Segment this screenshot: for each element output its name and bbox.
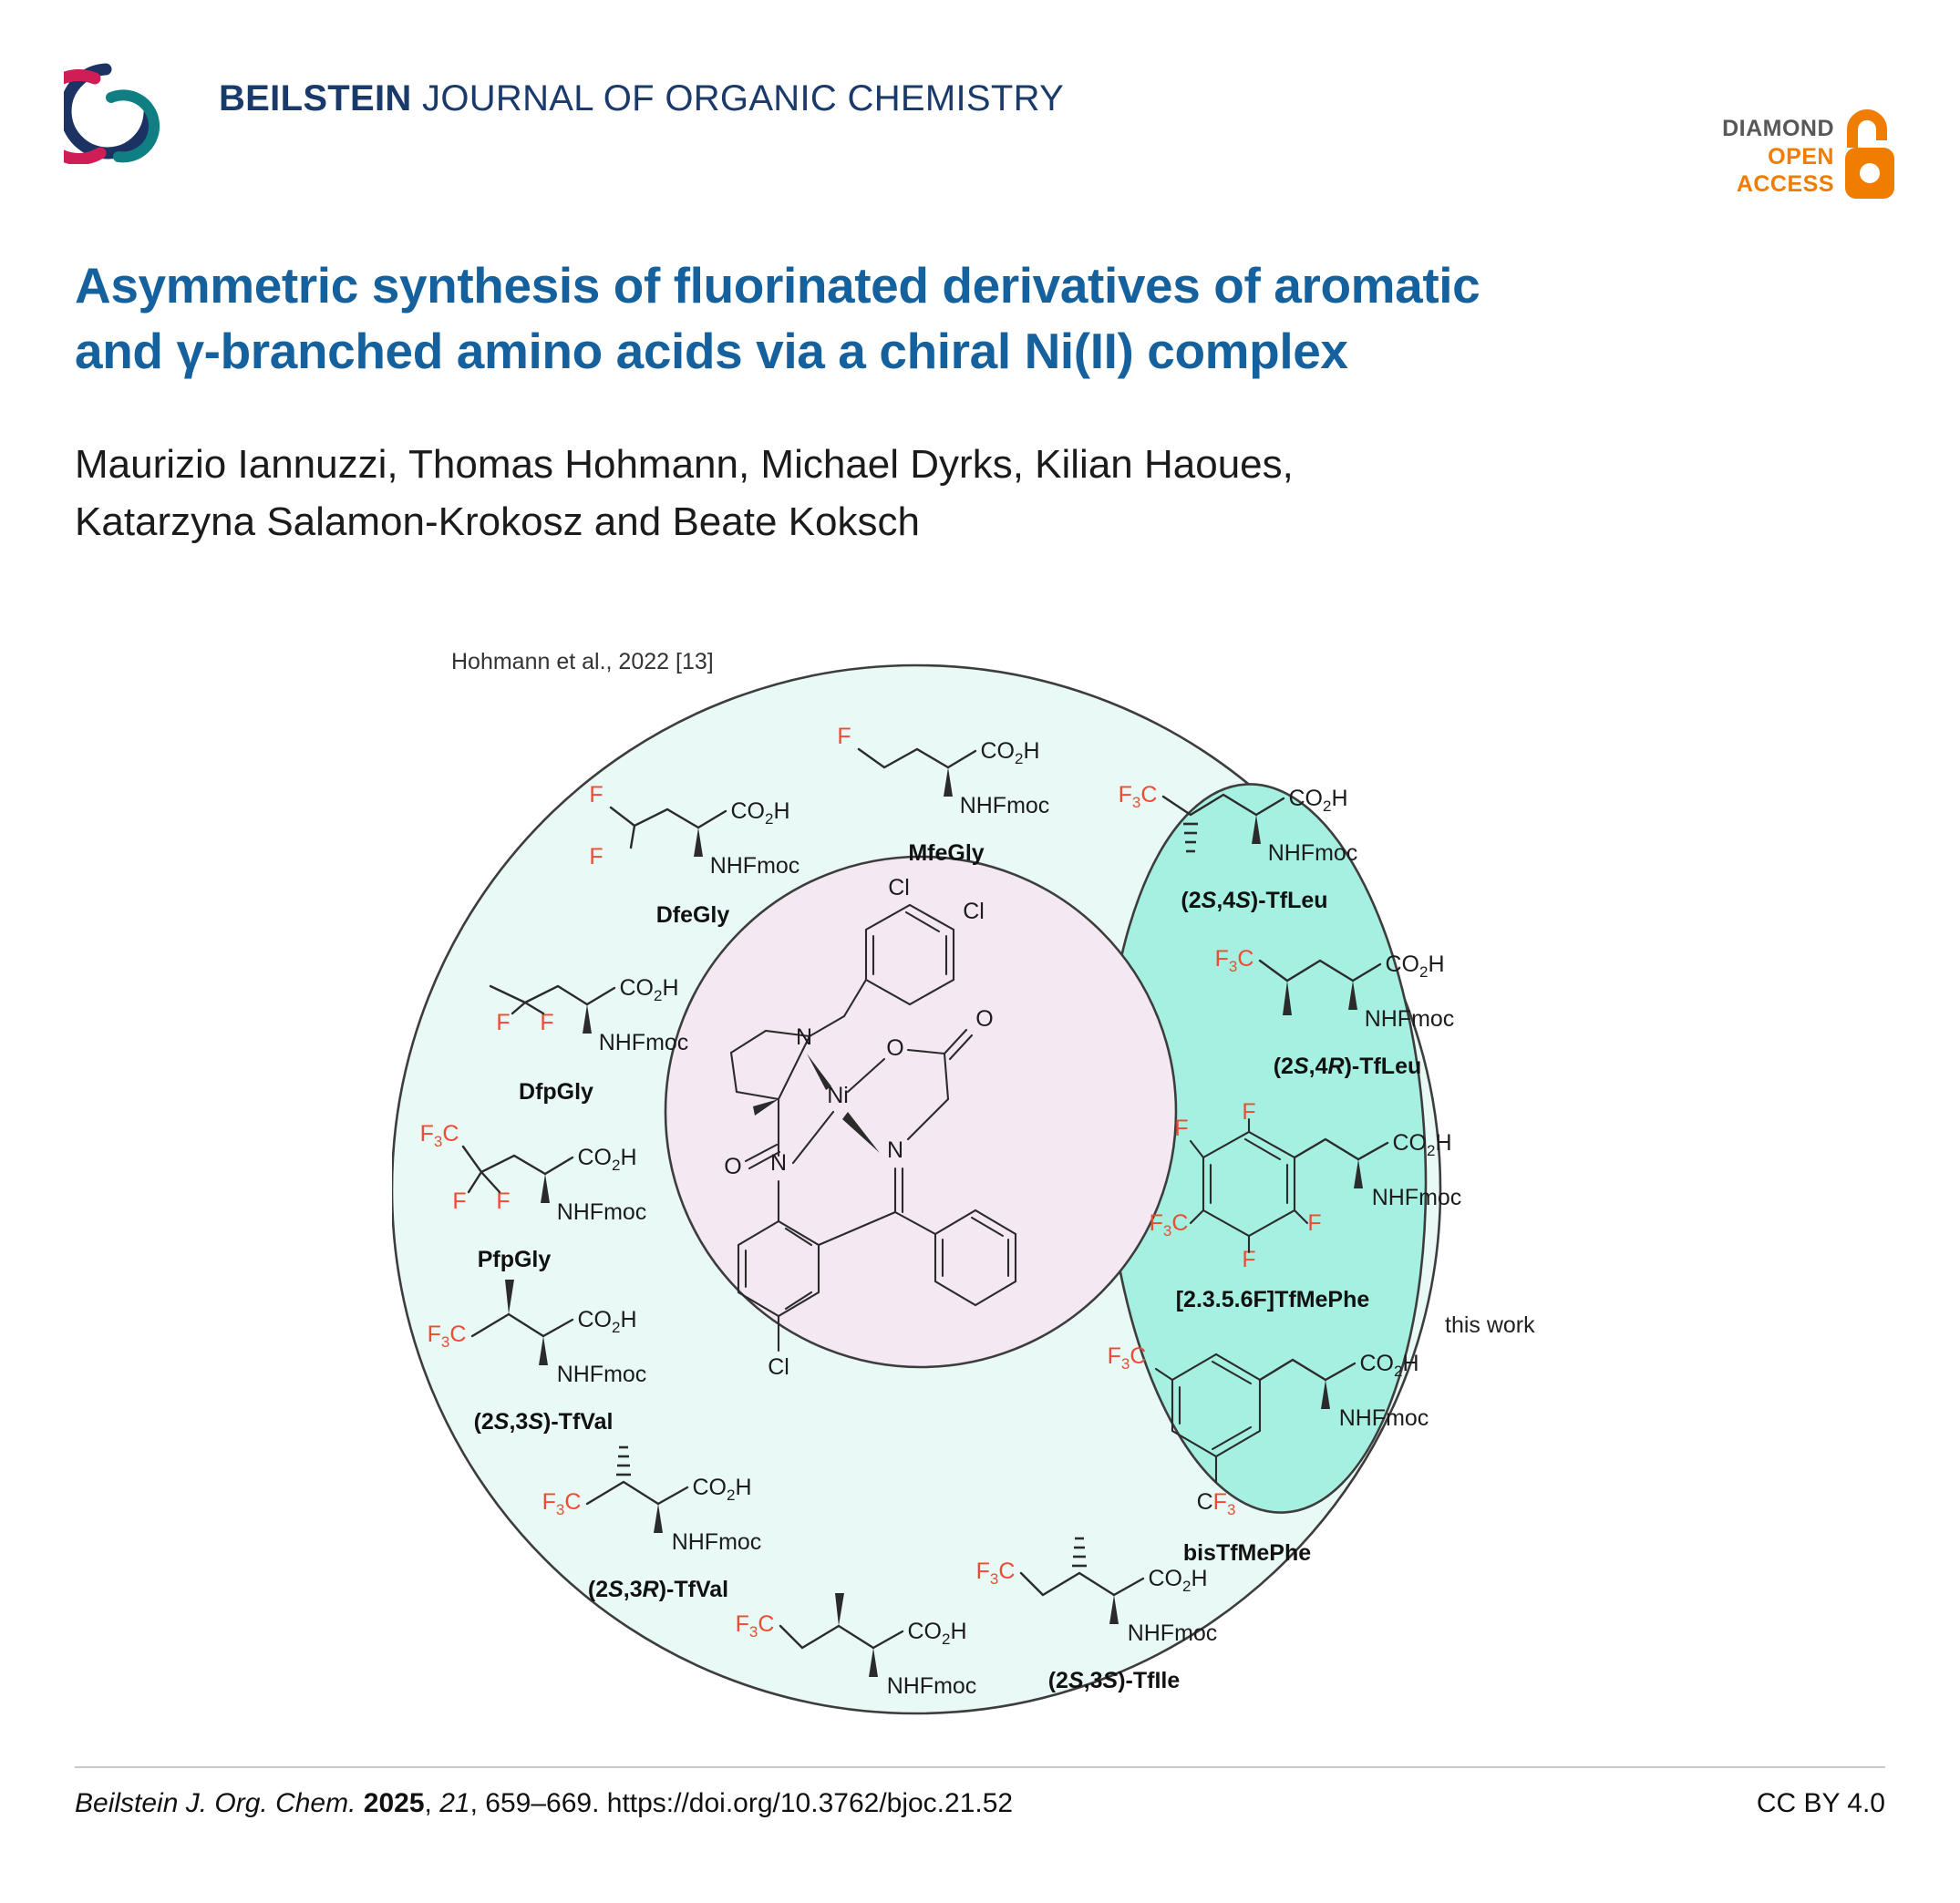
compound-label-MfeGly: MfeGly xyxy=(908,840,984,866)
svg-text:CO2H: CO2H xyxy=(1392,1130,1451,1159)
svg-text:CO2H: CO2H xyxy=(619,975,678,1004)
svg-text:NHFmoc: NHFmoc xyxy=(887,1673,977,1699)
license-label: CC BY 4.0 xyxy=(1757,1788,1885,1819)
svg-text:CO2H: CO2H xyxy=(577,1307,636,1336)
journal-brand-light: JOURNAL OF ORGANIC CHEMISTRY xyxy=(422,78,1064,118)
footer-citation: Beilstein J. Org. Chem. 2025, 21, 659–66… xyxy=(75,1788,1013,1819)
oa-access-label: ACCESS xyxy=(1722,170,1834,199)
page-title: Asymmetric synthesis of fluorinated deri… xyxy=(75,253,1880,384)
svg-text:NHFmoc: NHFmoc xyxy=(710,853,800,879)
compound-label-2S4S-TfLeu: (2S,4S)-TfLeu xyxy=(1181,888,1327,913)
title-line-2: and γ-branched amino acids via a chiral … xyxy=(75,319,1880,385)
svg-text:F: F xyxy=(837,724,851,749)
svg-text:F: F xyxy=(589,782,603,807)
open-access-words: DIAMOND OPEN ACCESS xyxy=(1722,115,1834,199)
footer-year: 2025 xyxy=(364,1788,425,1818)
this-work-label: this work xyxy=(1445,1312,1535,1339)
svg-text:CO2H: CO2H xyxy=(577,1145,636,1174)
compound-label-DfeGly: DfeGly xyxy=(656,902,730,928)
svg-text:NHFmoc: NHFmoc xyxy=(672,1529,762,1555)
compound-label-PfpGly: PfpGly xyxy=(478,1247,552,1272)
compound-label-2S3S-TfVal: (2S,3S)-TfVal xyxy=(474,1409,614,1435)
svg-text:F: F xyxy=(1174,1116,1188,1141)
footer-pages: 659–669. xyxy=(485,1788,599,1818)
svg-text:O: O xyxy=(975,1006,993,1032)
svg-text:NHFmoc: NHFmoc xyxy=(557,1199,647,1225)
svg-text:NHFmoc: NHFmoc xyxy=(1339,1405,1429,1431)
oa-open-label: OPEN xyxy=(1722,143,1834,171)
svg-text:N: N xyxy=(887,1137,903,1163)
footer-journal: Beilstein J. Org. Chem. xyxy=(75,1788,356,1818)
svg-text:CO2H: CO2H xyxy=(692,1475,751,1504)
svg-text:CO2H: CO2H xyxy=(730,798,789,828)
open-padlock-icon xyxy=(1840,108,1900,202)
open-access-badge: DIAMOND OPEN ACCESS xyxy=(1685,55,1922,164)
svg-text:CO2H: CO2H xyxy=(1385,951,1444,981)
svg-text:CO2H: CO2H xyxy=(980,738,1039,767)
svg-text:NHFmoc: NHFmoc xyxy=(557,1362,647,1387)
compound-label-2S3S-TfIle: (2S,3S)-TfIle xyxy=(1048,1668,1181,1693)
svg-text:CO2H: CO2H xyxy=(1148,1566,1207,1595)
svg-text:CO2H: CO2H xyxy=(1288,786,1347,815)
svg-text:NHFmoc: NHFmoc xyxy=(1268,840,1358,866)
svg-text:F: F xyxy=(589,844,603,869)
svg-text:N: N xyxy=(796,1024,812,1050)
ni-complex-circle xyxy=(665,857,1176,1367)
graphical-abstract: Hohmann et al., 2022 [13] this work Cl C… xyxy=(392,629,1568,1723)
svg-text:NHFmoc: NHFmoc xyxy=(1365,1006,1455,1032)
abstract-diagram: Cl Cl N O N Ni xyxy=(392,629,1568,1723)
footer-volume: 21 xyxy=(439,1788,469,1818)
svg-text:NHFmoc: NHFmoc xyxy=(960,793,1050,818)
title-line-1: Asymmetric synthesis of fluorinated deri… xyxy=(75,253,1880,319)
journal-brand-bold: BEILSTEIN xyxy=(219,78,412,118)
compound-label-2S3R-TfVal: (2S,3R)-TfVal xyxy=(588,1577,728,1602)
svg-text:O: O xyxy=(886,1035,903,1061)
svg-text:NHFmoc: NHFmoc xyxy=(599,1030,689,1055)
journal-brand: BEILSTEIN JOURNAL OF ORGANIC CHEMISTRY xyxy=(219,78,1064,119)
authors-line-1: Maurizio Iannuzzi, Thomas Hohmann, Micha… xyxy=(75,436,1625,493)
footer-divider xyxy=(75,1766,1885,1768)
figure-citation-label: Hohmann et al., 2022 [13] xyxy=(451,649,714,675)
footer-doi[interactable]: https://doi.org/10.3762/bjoc.21.52 xyxy=(607,1788,1013,1818)
svg-text:Cl: Cl xyxy=(888,875,910,900)
page-header: BEILSTEIN JOURNAL OF ORGANIC CHEMISTRY D… xyxy=(0,0,1960,164)
compound-label-2S3R-TfIle: (2S,3R)-TfIle xyxy=(807,1721,940,1723)
svg-text:CO2H: CO2H xyxy=(1359,1351,1418,1380)
author-list: Maurizio Iannuzzi, Thomas Hohmann, Micha… xyxy=(75,436,1625,551)
compound-label-bisTfMePhe: bisTfMePhe xyxy=(1183,1540,1311,1566)
compound-label-2S4R-TfLeu: (2S,4R)-TfLeu xyxy=(1274,1054,1422,1079)
svg-text:CO2H: CO2H xyxy=(907,1619,966,1648)
svg-text:Cl: Cl xyxy=(768,1354,789,1380)
svg-text:Cl: Cl xyxy=(963,899,985,924)
compound-label-TfMePhe: [2.3.5.6F]TfMePhe xyxy=(1176,1287,1370,1312)
compound-label-DfpGly: DfpGly xyxy=(519,1079,593,1105)
svg-text:O: O xyxy=(724,1154,741,1179)
authors-line-2: Katarzyna Salamon-Krokosz and Beate Koks… xyxy=(75,493,1625,550)
svg-text:F: F xyxy=(1307,1210,1321,1236)
svg-text:F: F xyxy=(452,1188,466,1214)
svg-text:NHFmoc: NHFmoc xyxy=(1128,1620,1218,1646)
beilstein-triple-arc-logo xyxy=(64,57,173,164)
svg-text:NHFmoc: NHFmoc xyxy=(1372,1185,1462,1210)
svg-text:F: F xyxy=(496,1010,510,1035)
oa-diamond-label: DIAMOND xyxy=(1722,115,1834,143)
